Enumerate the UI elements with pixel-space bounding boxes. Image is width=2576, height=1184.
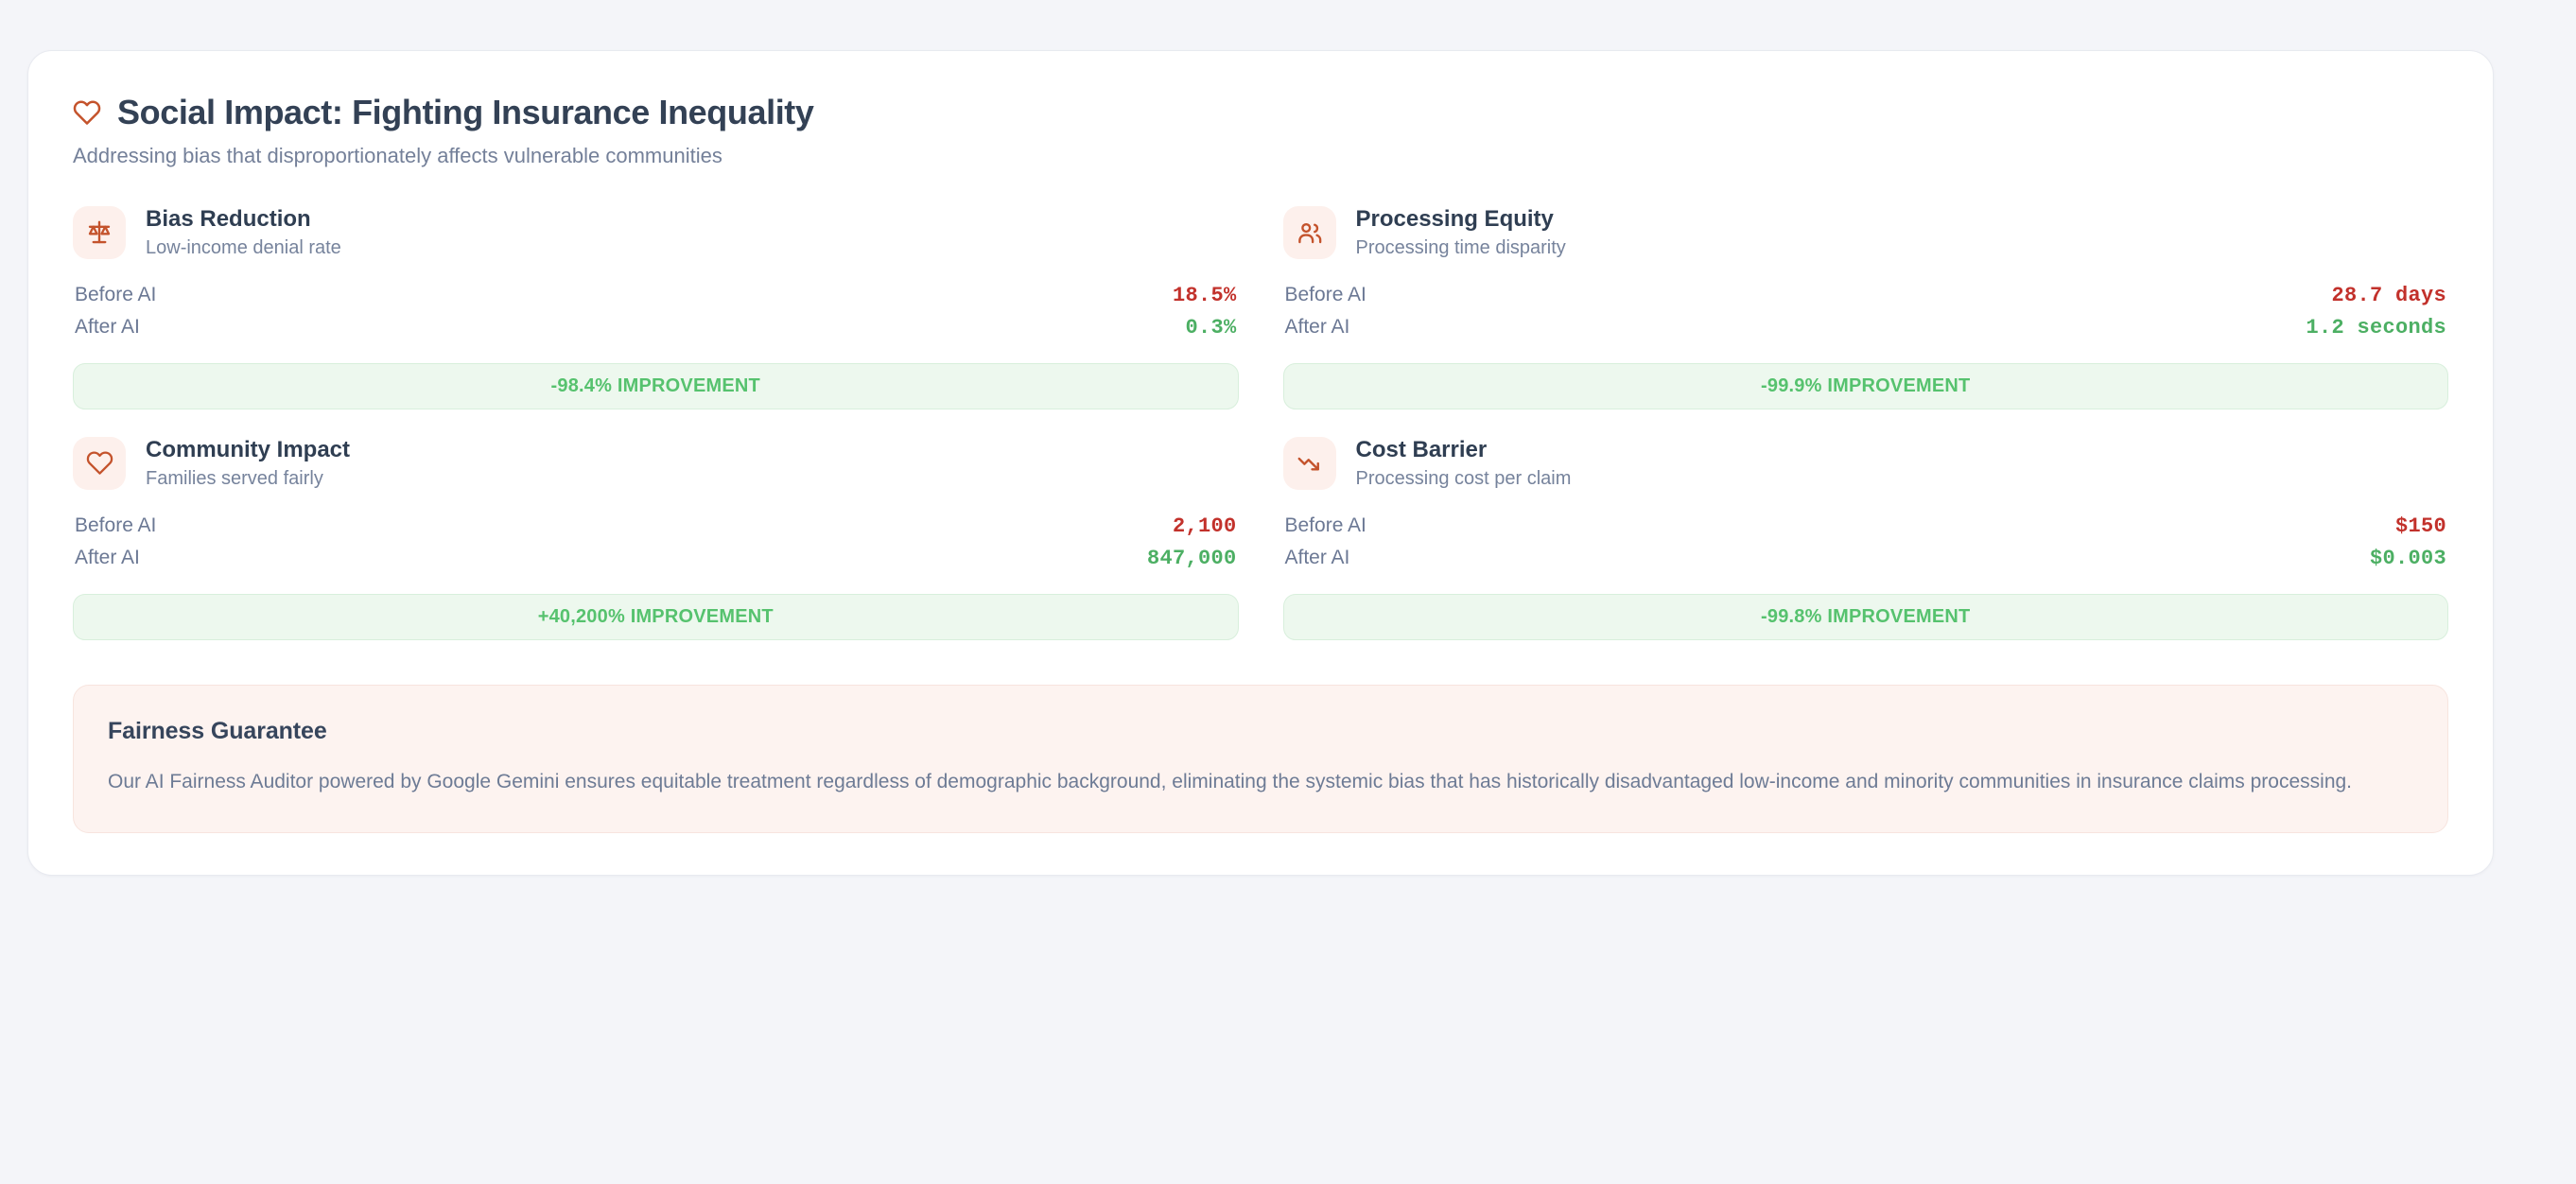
metric-label: Cost Barrier [1356,437,1572,463]
metric-rows: Before AI $150 After AI $0.003 [1283,511,2449,575]
heart-icon [73,98,101,127]
users-icon [1283,206,1336,259]
metric-label: Processing Equity [1356,206,1566,233]
metric-head: Community Impact Families served fairly [73,437,1239,490]
title-row: Social Impact: Fighting Insurance Inequa… [73,92,2448,132]
metric-row-after: After AI 847,000 [75,543,1237,575]
metric-row-before: Before AI $150 [1285,511,2447,543]
row-label-before: Before AI [75,514,156,537]
metric-card-community-impact: Community Impact Families served fairly … [73,437,1239,640]
metric-titles: Bias Reduction Low-income denial rate [146,206,341,259]
panel-subtitle: Addressing bias that disproportionately … [73,143,2448,170]
scales-icon [73,206,126,259]
metric-head: Cost Barrier Processing cost per claim [1283,437,2449,490]
social-impact-panel: Social Impact: Fighting Insurance Inequa… [27,50,2494,876]
metric-row-before: Before AI 18.5% [75,280,1237,312]
row-value-after: 847,000 [1147,547,1237,570]
metric-sublabel: Processing time disparity [1356,236,1566,259]
metric-row-after: After AI 1.2 seconds [1285,312,2447,344]
metric-card-processing-equity: Processing Equity Processing time dispar… [1283,206,2449,409]
metric-label: Bias Reduction [146,206,341,233]
fairness-guarantee-callout: Fairness Guarantee Our AI Fairness Audit… [73,685,2448,833]
improvement-badge: -98.4% IMPROVEMENT [73,363,1239,409]
row-value-before: $150 [2395,514,2446,538]
heart-icon [73,437,126,490]
improvement-badge: -99.8% IMPROVEMENT [1283,594,2449,640]
trending-down-icon [1283,437,1336,490]
fairness-guarantee-title: Fairness Guarantee [108,718,2413,745]
row-value-before: 28.7 days [2331,284,2446,307]
metric-row-before: Before AI 2,100 [75,511,1237,543]
panel-header: Social Impact: Fighting Insurance Inequa… [73,92,2448,170]
row-label-before: Before AI [1285,284,1366,306]
page-title: Social Impact: Fighting Insurance Inequa… [117,92,814,132]
row-label-after: After AI [1285,547,1350,569]
row-value-after: 0.3% [1185,316,1236,340]
metric-head: Bias Reduction Low-income denial rate [73,206,1239,259]
metric-card-bias-reduction: Bias Reduction Low-income denial rate Be… [73,206,1239,409]
metric-sublabel: Processing cost per claim [1356,467,1572,490]
fairness-guarantee-body: Our AI Fairness Auditor powered by Googl… [108,766,2413,798]
metric-row-before: Before AI 28.7 days [1285,280,2447,312]
metric-label: Community Impact [146,437,350,463]
row-label-after: After AI [75,547,140,569]
metric-row-after: After AI $0.003 [1285,543,2447,575]
metric-titles: Processing Equity Processing time dispar… [1356,206,1566,259]
row-value-before: 18.5% [1173,284,1237,307]
row-value-after: 1.2 seconds [2306,316,2446,340]
row-value-after: $0.003 [2370,547,2446,570]
metric-row-after: After AI 0.3% [75,312,1237,344]
page-root: Social Impact: Fighting Insurance Inequa… [0,0,2576,1184]
improvement-badge: -99.9% IMPROVEMENT [1283,363,2449,409]
row-label-after: After AI [1285,316,1350,339]
metric-card-cost-barrier: Cost Barrier Processing cost per claim B… [1283,437,2449,640]
metric-sublabel: Families served fairly [146,467,350,490]
metrics-grid: Bias Reduction Low-income denial rate Be… [73,206,2448,640]
improvement-badge: +40,200% IMPROVEMENT [73,594,1239,640]
row-value-before: 2,100 [1173,514,1237,538]
row-label-before: Before AI [1285,514,1366,537]
metric-rows: Before AI 2,100 After AI 847,000 [73,511,1239,575]
metric-sublabel: Low-income denial rate [146,236,341,259]
metric-titles: Cost Barrier Processing cost per claim [1356,437,1572,490]
metric-titles: Community Impact Families served fairly [146,437,350,490]
row-label-before: Before AI [75,284,156,306]
metric-head: Processing Equity Processing time dispar… [1283,206,2449,259]
metric-rows: Before AI 28.7 days After AI 1.2 seconds [1283,280,2449,344]
metric-rows: Before AI 18.5% After AI 0.3% [73,280,1239,344]
row-label-after: After AI [75,316,140,339]
